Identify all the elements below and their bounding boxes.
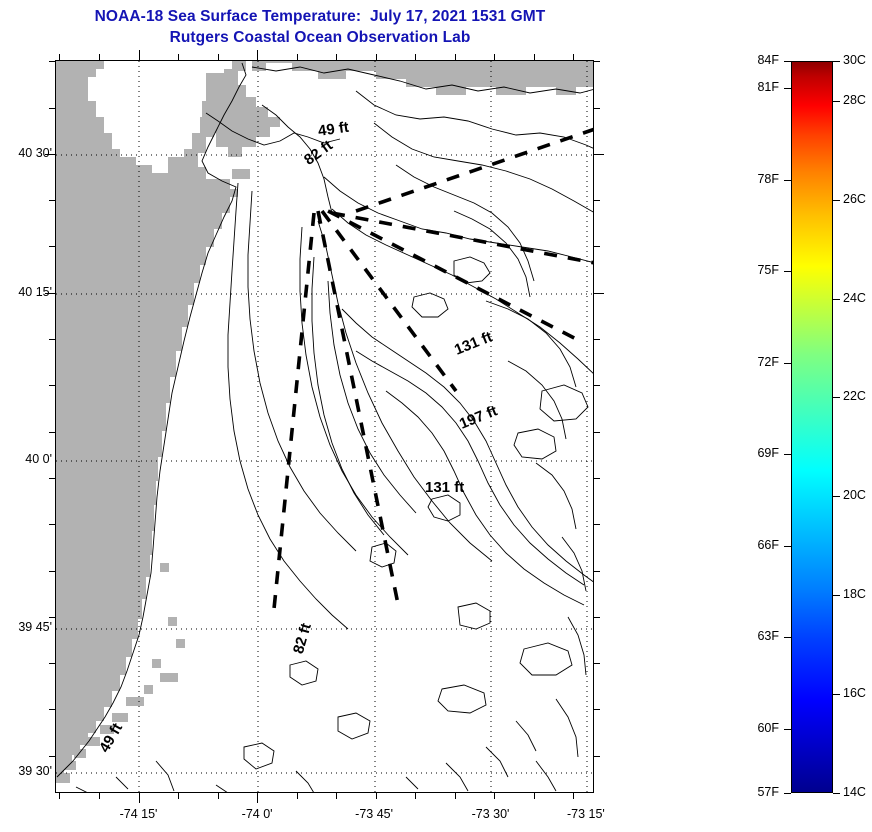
- x-axis-tick-label: -73 45': [334, 807, 414, 821]
- x-axis-tick-label: -73 30': [451, 807, 531, 821]
- colorbar-celsius-label: 24C: [843, 291, 872, 305]
- depth-label-131ft-south: 131 ft: [425, 479, 464, 496]
- y-minor-tick-right: [594, 200, 600, 201]
- y-major-tick-right: [594, 293, 604, 294]
- y-axis-tick-label: 40 0': [0, 452, 52, 466]
- x-minor-tick: [99, 793, 100, 799]
- chart-title-line-2: Rutgers Coastal Ocean Observation Lab: [0, 27, 640, 48]
- x-major-tick: [139, 793, 140, 803]
- colorbar-fahrenheit-label: 63F: [729, 629, 779, 643]
- x-axis-tick-label: -73 15': [546, 807, 626, 821]
- x-minor-tick: [218, 793, 219, 799]
- x-major-tick-top: [257, 50, 258, 60]
- colorbar-celsius-label: 22C: [843, 389, 872, 403]
- x-axis-tick-label: -74 15': [99, 807, 179, 821]
- colorbar-fahrenheit-tick: [784, 793, 791, 794]
- colorbar-fahrenheit-label: 81F: [729, 80, 779, 94]
- colorbar-fahrenheit-label: 57F: [729, 785, 779, 799]
- y-minor-tick-right: [594, 478, 600, 479]
- chart-title-line-1: NOAA-18 Sea Surface Temperature: July 17…: [0, 6, 640, 27]
- colorbar-fahrenheit-label: 69F: [729, 446, 779, 460]
- colorbar-gradient: [791, 61, 833, 793]
- y-minor-tick-right: [594, 709, 600, 710]
- land-mass-layer: [56, 61, 594, 783]
- x-major-tick: [257, 793, 258, 803]
- colorbar-celsius-label: 28C: [843, 93, 872, 107]
- colorbar-celsius-label: 14C: [843, 785, 872, 799]
- x-minor-tick: [376, 793, 377, 799]
- y-minor-tick-right: [594, 756, 600, 757]
- colorbar-celsius-label: 18C: [843, 587, 872, 601]
- y-minor-tick-right: [594, 663, 600, 664]
- y-minor-tick-right: [594, 108, 600, 109]
- colorbar-fahrenheit-tick: [784, 363, 791, 364]
- x-major-tick-top: [139, 50, 140, 60]
- y-minor-tick-right: [594, 432, 600, 433]
- radial-transect-lines: [274, 129, 594, 609]
- y-axis-tick-label: 39 45': [0, 620, 52, 634]
- colorbar-celsius-label: 20C: [843, 488, 872, 502]
- colorbar-celsius-label: 16C: [843, 686, 872, 700]
- colorbar-fahrenheit-tick: [784, 546, 791, 547]
- y-minor-tick-right: [594, 246, 600, 247]
- colorbar-fahrenheit-label: 72F: [729, 355, 779, 369]
- x-minor-tick: [178, 793, 179, 799]
- chart-title: NOAA-18 Sea Surface Temperature: July 17…: [0, 6, 640, 48]
- y-axis-tick-label: 40 15': [0, 285, 52, 299]
- x-minor-tick: [573, 793, 574, 799]
- colorbar-fahrenheit-tick: [784, 271, 791, 272]
- colorbar-celsius-tick: [833, 793, 840, 794]
- sst-map-plot-area: 49 ft 82 ft 131 ft 197 ft 131 ft 82 ft 4…: [55, 60, 594, 793]
- colorbar-fahrenheit-tick: [784, 637, 791, 638]
- colorbar-celsius-tick: [833, 397, 840, 398]
- x-axis-tick-label: -74 0': [217, 807, 297, 821]
- colorbar-celsius-label: 30C: [843, 53, 872, 67]
- y-major-tick-right: [594, 154, 604, 155]
- colorbar-fahrenheit-label: 75F: [729, 263, 779, 277]
- colorbar-fahrenheit-label: 60F: [729, 721, 779, 735]
- colorbar-fahrenheit-tick: [784, 61, 791, 62]
- y-minor-tick-right: [594, 385, 600, 386]
- y-minor-tick-right: [594, 524, 600, 525]
- colorbar-celsius-label: 26C: [843, 192, 872, 206]
- y-axis-tick-label: 40 30': [0, 146, 52, 160]
- x-minor-tick: [455, 793, 456, 799]
- y-minor-tick-right: [594, 617, 600, 618]
- y-minor-tick-right: [594, 61, 600, 62]
- colorbar-fahrenheit-label: 66F: [729, 538, 779, 552]
- x-minor-tick: [494, 793, 495, 799]
- colorbar-celsius-tick: [833, 299, 840, 300]
- colorbar-fahrenheit-tick: [784, 454, 791, 455]
- colorbar-fahrenheit-tick: [784, 729, 791, 730]
- y-minor-tick-right: [594, 339, 600, 340]
- x-minor-tick: [336, 793, 337, 799]
- x-minor-tick: [534, 793, 535, 799]
- colorbar-fahrenheit-tick: [784, 88, 791, 89]
- colorbar-celsius-tick: [833, 595, 840, 596]
- colorbar-celsius-tick: [833, 200, 840, 201]
- colorbar-celsius-tick: [833, 496, 840, 497]
- y-minor-tick-right: [594, 571, 600, 572]
- x-minor-tick: [297, 793, 298, 799]
- colorbar-celsius-tick: [833, 61, 840, 62]
- y-axis-tick-label: 39 30': [0, 764, 52, 778]
- colorbar-celsius-tick: [833, 694, 840, 695]
- colorbar-fahrenheit-label: 78F: [729, 172, 779, 186]
- map-graphics: [56, 61, 594, 793]
- colorbar-celsius-tick: [833, 101, 840, 102]
- x-minor-tick: [415, 793, 416, 799]
- colorbar-fahrenheit-label: 84F: [729, 53, 779, 67]
- x-minor-tick: [59, 793, 60, 799]
- colorbar-fahrenheit-tick: [784, 180, 791, 181]
